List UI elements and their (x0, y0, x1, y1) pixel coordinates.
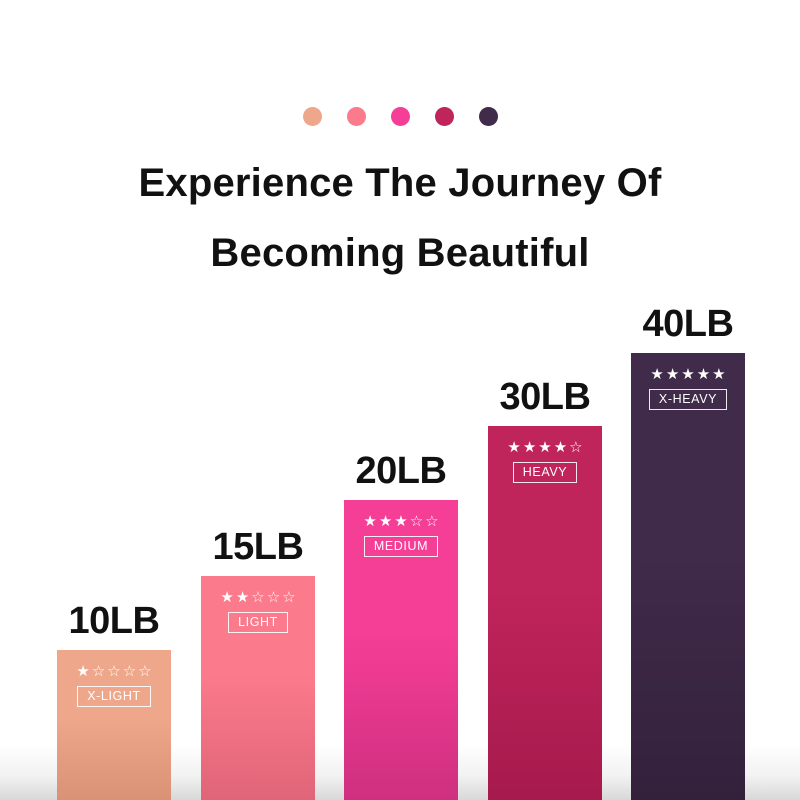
star-empty-icon: ☆ (138, 664, 151, 679)
star-filled-icon: ★ (379, 514, 392, 529)
star-filled-icon: ★ (697, 367, 710, 382)
resistance-tag-medium: MEDIUM (364, 536, 438, 557)
star-empty-icon: ☆ (107, 664, 120, 679)
star-empty-icon: ☆ (410, 514, 423, 529)
bar-light: ★★☆☆☆LIGHT (201, 576, 315, 800)
bar-value-label-x-heavy: 40LB (609, 305, 767, 343)
bar-group-heavy: 30LB★★★★☆HEAVY (488, 366, 602, 800)
bar-badge-light: ★★☆☆☆LIGHT (201, 590, 315, 633)
bar-badge-x-light: ★☆☆☆☆X-LIGHT (57, 664, 171, 707)
bar-value-label-heavy: 30LB (466, 378, 624, 416)
bar-value-label-x-light: 10LB (35, 602, 193, 640)
star-filled-icon: ★ (236, 590, 249, 605)
bar-badge-heavy: ★★★★☆HEAVY (488, 440, 602, 483)
promo-infographic: Experience The Journey Of Becoming Beaut… (0, 0, 800, 800)
bar-group-x-heavy: 40LB★★★★★X-HEAVY (631, 293, 745, 800)
star-filled-icon: ★ (712, 367, 725, 382)
bar-group-light: 15LB★★☆☆☆LIGHT (201, 516, 315, 800)
star-empty-icon: ☆ (251, 590, 264, 605)
star-empty-icon: ☆ (123, 664, 136, 679)
bar-group-x-light: 10LB★☆☆☆☆X-LIGHT (57, 590, 171, 800)
star-rating-medium: ★★★☆☆ (363, 514, 438, 529)
star-empty-icon: ☆ (92, 664, 105, 679)
star-empty-icon: ☆ (282, 590, 295, 605)
resistance-tag-x-light: X-LIGHT (77, 686, 151, 707)
bar-x-light: ★☆☆☆☆X-LIGHT (57, 650, 171, 800)
star-filled-icon: ★ (394, 514, 407, 529)
bar-medium: ★★★☆☆MEDIUM (344, 500, 458, 800)
star-empty-icon: ☆ (267, 590, 280, 605)
bar-badge-medium: ★★★☆☆MEDIUM (344, 514, 458, 557)
star-filled-icon: ★ (681, 367, 694, 382)
star-filled-icon: ★ (76, 664, 89, 679)
resistance-bar-chart: 10LB★☆☆☆☆X-LIGHT15LB★★☆☆☆LIGHT20LB★★★☆☆M… (0, 0, 800, 800)
bar-value-label-medium: 20LB (322, 452, 480, 490)
star-filled-icon: ★ (650, 367, 663, 382)
bar-badge-x-heavy: ★★★★★X-HEAVY (631, 367, 745, 410)
resistance-tag-light: LIGHT (228, 612, 288, 633)
bar-value-label-light: 15LB (179, 528, 337, 566)
star-filled-icon: ★ (220, 590, 233, 605)
star-filled-icon: ★ (538, 440, 551, 455)
star-rating-light: ★★☆☆☆ (220, 590, 295, 605)
star-filled-icon: ★ (554, 440, 567, 455)
star-rating-x-heavy: ★★★★★ (650, 367, 725, 382)
resistance-tag-x-heavy: X-HEAVY (649, 389, 727, 410)
star-rating-heavy: ★★★★☆ (507, 440, 582, 455)
star-empty-icon: ☆ (425, 514, 438, 529)
star-filled-icon: ★ (666, 367, 679, 382)
bar-group-medium: 20LB★★★☆☆MEDIUM (344, 440, 458, 800)
star-rating-x-light: ★☆☆☆☆ (76, 664, 151, 679)
star-filled-icon: ★ (523, 440, 536, 455)
resistance-tag-heavy: HEAVY (513, 462, 577, 483)
bar-heavy: ★★★★☆HEAVY (488, 426, 602, 800)
bar-x-heavy: ★★★★★X-HEAVY (631, 353, 745, 800)
star-filled-icon: ★ (363, 514, 376, 529)
star-empty-icon: ☆ (569, 440, 582, 455)
star-filled-icon: ★ (507, 440, 520, 455)
